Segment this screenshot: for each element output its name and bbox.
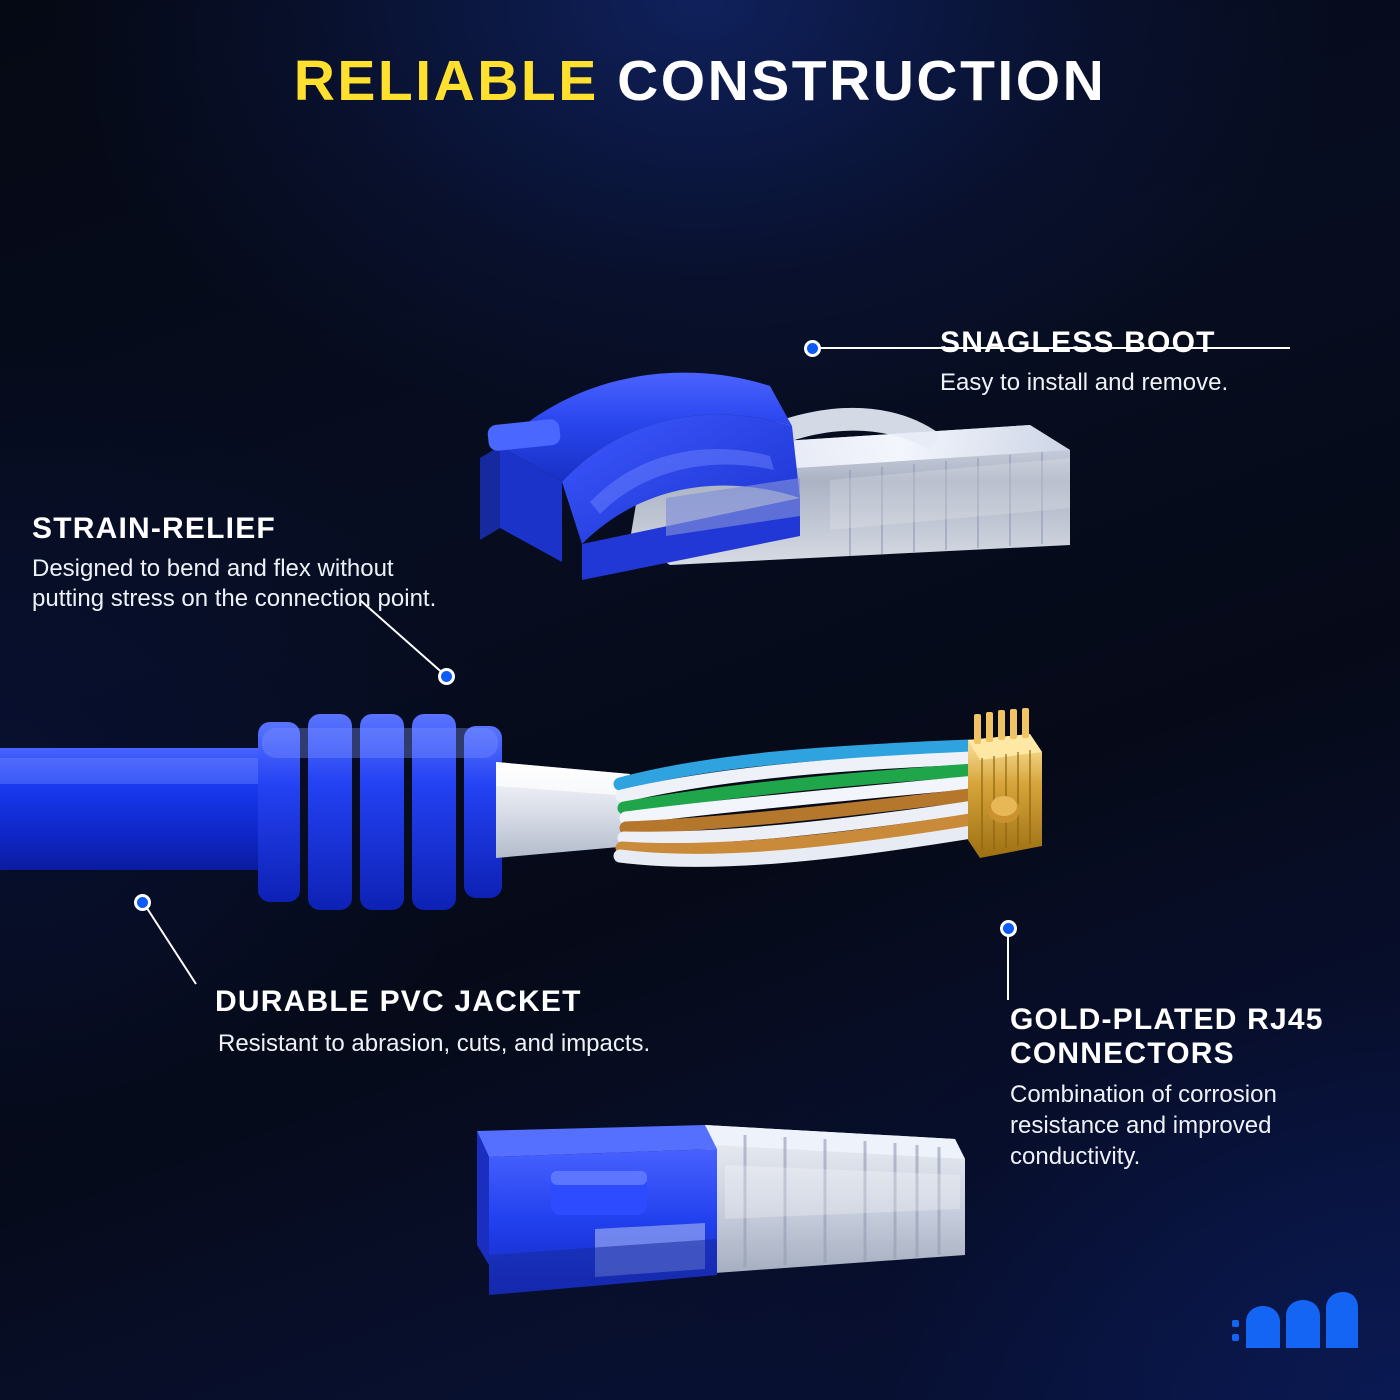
page-title-rest: CONSTRUCTION (617, 49, 1106, 113)
callout-gold-plated-rj45-connectors: GOLD-PLATED RJ45 CONNECTORS Combination … (1010, 1003, 1380, 1172)
callout-body-snagless-boot: Easy to install and remove. (940, 368, 1340, 399)
callout-title-snagless-boot: SNAGLESS BOOT (940, 326, 1340, 360)
callout-title-durable-pvc-jacket: DURABLE PVC JACKET (215, 985, 685, 1019)
brand-logo-icon (1230, 1292, 1360, 1362)
page-title: RELIABLE CONSTRUCTION (0, 48, 1400, 114)
callout-dot-gold-plated-connectors (1000, 920, 1017, 937)
callout-body-strain-relief: Designed to bend and flex without puttin… (32, 554, 452, 615)
callout-title-gold-plated-rj45-connectors: GOLD-PLATED RJ45 CONNECTORS (1010, 1003, 1380, 1070)
main-cable-illustration (0, 700, 1070, 940)
callout-dot-snagless-boot (804, 340, 821, 357)
callout-dot-strain-relief (438, 668, 455, 685)
page-title-highlight: RELIABLE (294, 49, 599, 113)
callout-body-gold-plated-rj45-connectors: Combination of corrosion resistance and … (1010, 1080, 1380, 1172)
callout-dot-durable-pvc-jacket (134, 894, 151, 911)
callout-body-durable-pvc-jacket: Resistant to abrasion, cuts, and impacts… (215, 1029, 685, 1060)
callout-durable-pvc-jacket: DURABLE PVC JACKET Resistant to abrasion… (215, 985, 685, 1059)
callout-snagless-boot: SNAGLESS BOOT Easy to install and remove… (940, 326, 1340, 398)
bottom-connector-illustration (455, 1105, 995, 1305)
callout-strain-relief: STRAIN-RELIEF Designed to bend and flex … (32, 512, 452, 615)
poster-canvas: RELIABLE CONSTRUCTION (0, 0, 1400, 1400)
callout-title-strain-relief: STRAIN-RELIEF (32, 512, 452, 546)
